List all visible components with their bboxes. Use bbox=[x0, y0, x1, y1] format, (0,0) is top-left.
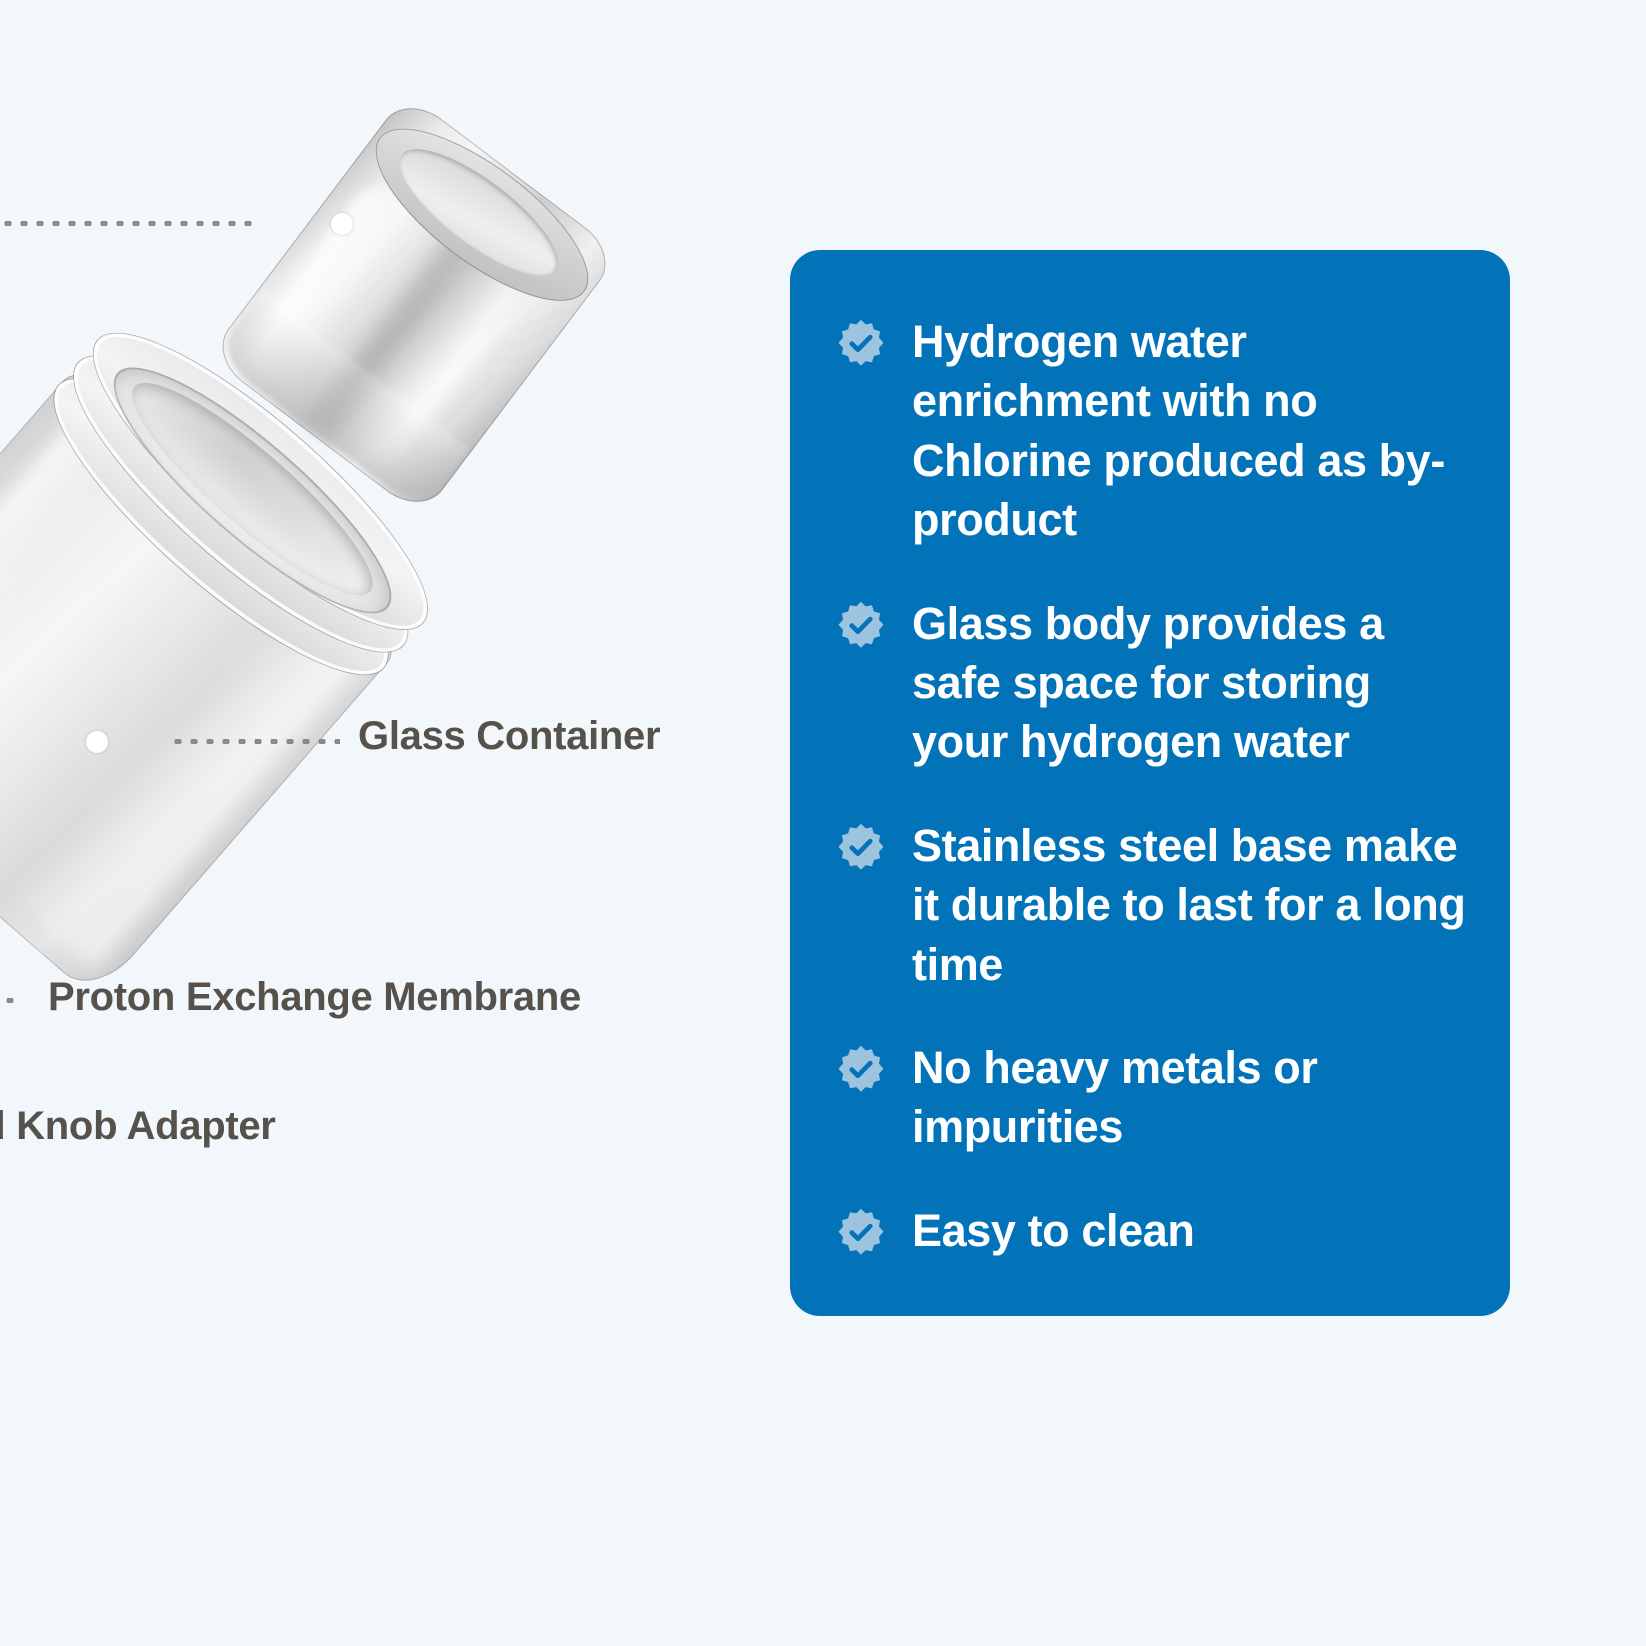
marker-dot-glass-container bbox=[86, 731, 108, 753]
feature-list: Hydrogen water enrichment with no Chlori… bbox=[834, 312, 1466, 1261]
badge-check-icon bbox=[834, 1207, 888, 1261]
badge-check-icon bbox=[834, 318, 888, 372]
glass-container-part bbox=[0, 282, 410, 882]
feature-item: Easy to clean bbox=[834, 1201, 1466, 1261]
marker-dot-cap bbox=[331, 213, 353, 235]
badge-check-icon bbox=[834, 1044, 888, 1098]
feature-item: Stainless steel base make it durable to … bbox=[834, 816, 1466, 994]
leader-line-glass-container bbox=[170, 739, 340, 744]
feature-text: Hydrogen water enrichment with no Chlori… bbox=[912, 312, 1466, 550]
feature-text: Easy to clean bbox=[912, 1201, 1194, 1260]
leader-line-cap bbox=[0, 221, 252, 226]
feature-item: Hydrogen water enrichment with no Chlori… bbox=[834, 312, 1466, 550]
badge-check-icon bbox=[834, 822, 888, 876]
glass-container-shape bbox=[0, 294, 463, 999]
feature-text: Stainless steel base make it durable to … bbox=[912, 816, 1466, 994]
badge-check-icon bbox=[834, 600, 888, 654]
feature-item: No heavy metals or impurities bbox=[834, 1038, 1466, 1157]
features-card: Hydrogen water enrichment with no Chlori… bbox=[790, 250, 1510, 1316]
leader-line-proton-exchange-membrane bbox=[0, 998, 16, 1003]
product-illustration: Glass Container Proton Exchange Membrane… bbox=[0, 0, 790, 1646]
feature-item: Glass body provides a safe space for sto… bbox=[834, 594, 1466, 772]
callout-label-proton-exchange-membrane: Proton Exchange Membrane bbox=[48, 975, 581, 1020]
callout-label-knob-adapter: rd Knob Adapter bbox=[0, 1104, 276, 1149]
feature-text: No heavy metals or impurities bbox=[912, 1038, 1466, 1157]
feature-text: Glass body provides a safe space for sto… bbox=[912, 594, 1466, 772]
callout-label-glass-container: Glass Container bbox=[358, 714, 660, 759]
page-root: Glass Container Proton Exchange Membrane… bbox=[0, 0, 1646, 1646]
